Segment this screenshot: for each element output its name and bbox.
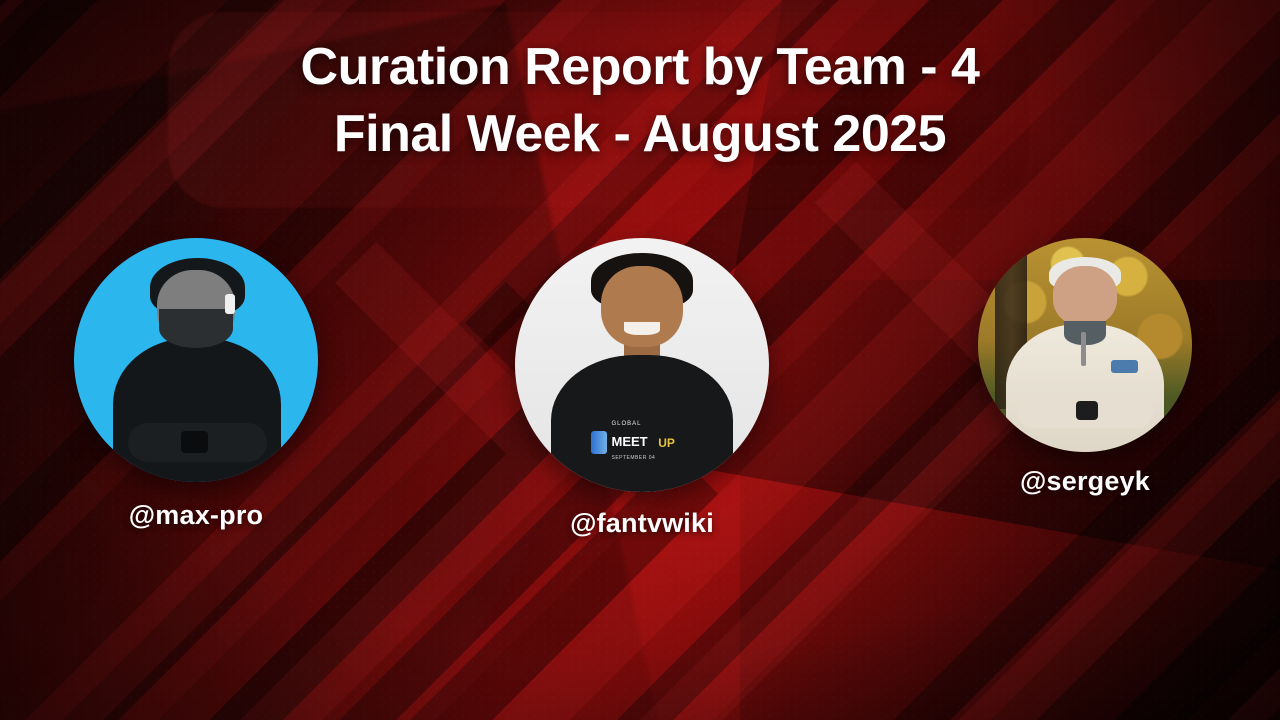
avatar-chest-badge <box>1111 360 1139 373</box>
shirt-logo-line-4: SEPTEMBER 04 <box>612 455 656 461</box>
avatar-shirt-logo: GLOBAL MEET UP SEPTEMBER 04 <box>591 421 693 464</box>
team-member-list: @max-pro GLOBAL MEET UP SEPTEMB <box>0 238 1280 578</box>
shirt-logo-mark <box>591 431 607 453</box>
avatar-max-pro[interactable] <box>74 238 318 482</box>
member-handle: @fantvwiki <box>515 508 769 539</box>
avatar-face <box>601 266 682 347</box>
shirt-logo-line-1: GLOBAL <box>612 421 642 427</box>
title-line-2: Final Week - August 2025 <box>0 101 1280 168</box>
avatar-zipper <box>1081 332 1086 366</box>
member-handle: @max-pro <box>74 500 318 531</box>
avatar-wristwatch <box>1076 401 1097 420</box>
avatar-beard <box>159 309 232 348</box>
avatar-sergeyk[interactable] <box>978 238 1192 452</box>
shirt-logo-line-2: MEET <box>612 434 648 449</box>
avatar-smile <box>624 322 660 335</box>
team-member-sergeyk[interactable]: @sergeyk <box>978 238 1192 497</box>
team-member-fantvwiki[interactable]: GLOBAL MEET UP SEPTEMBER 04 @fantvwiki <box>515 238 769 539</box>
curation-report-banner: Curation Report by Team - 4 Final Week -… <box>0 0 1280 720</box>
avatar-wristwatch <box>181 431 208 453</box>
shirt-logo-line-3: UP <box>658 436 675 450</box>
member-handle: @sergeyk <box>978 466 1192 497</box>
title-line-1: Curation Report by Team - 4 <box>0 34 1280 101</box>
banner-title: Curation Report by Team - 4 Final Week -… <box>0 34 1280 167</box>
team-member-max-pro[interactable]: @max-pro <box>74 238 318 531</box>
avatar-fantvwiki[interactable]: GLOBAL MEET UP SEPTEMBER 04 <box>515 238 769 492</box>
avatar-face <box>1053 266 1117 326</box>
avatar-earbud <box>225 294 235 314</box>
